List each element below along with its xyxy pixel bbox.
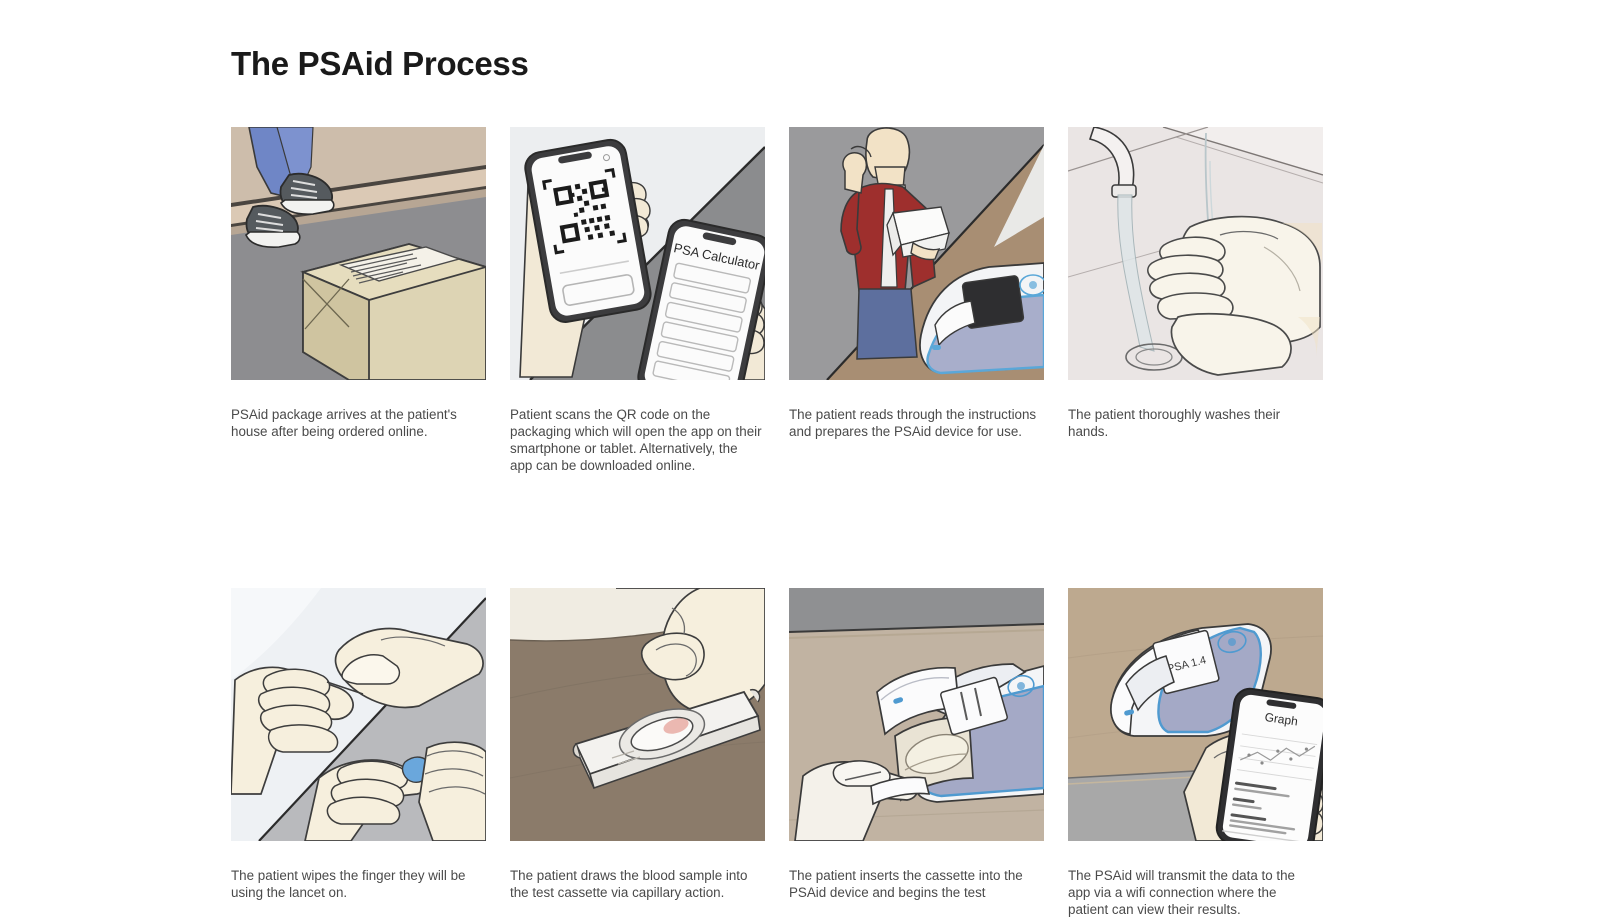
step-7-insert-cassette: The patient inserts the cassette into th…	[789, 588, 1044, 918]
step-4-illustration	[1068, 127, 1323, 380]
psaid-process-infographic: The PSAid Process	[0, 0, 1600, 900]
step-7-caption: The patient inserts the cassette into th…	[789, 867, 1041, 901]
step-1-package-delivery: PSAid package arrives at the patient's h…	[231, 127, 486, 475]
steps-row-2: The patient wipes the finger they will b…	[231, 588, 1341, 918]
step-3-caption: The patient reads through the instructio…	[789, 406, 1041, 440]
step-5-wipe-finger: The patient wipes the finger they will b…	[231, 588, 486, 918]
step-7-illustration	[789, 588, 1044, 841]
step-8-illustration: PSA 1.4	[1068, 588, 1323, 841]
step-4-wash-hands: The patient thoroughly washes their hand…	[1068, 127, 1323, 475]
step-1-illustration	[231, 127, 486, 380]
step-1-caption: PSAid package arrives at the patient's h…	[231, 406, 483, 440]
step-3-illustration	[789, 127, 1044, 380]
step-6-draw-blood-sample: The patient draws the blood sample into …	[510, 588, 765, 918]
step-4-caption: The patient thoroughly washes their hand…	[1068, 406, 1320, 440]
step-5-caption: The patient wipes the finger they will b…	[231, 867, 483, 901]
step-6-illustration	[510, 588, 765, 841]
step-2-caption: Patient scans the QR code on the packagi…	[510, 406, 762, 475]
step-8-view-results: PSA 1.4	[1068, 588, 1323, 918]
step-5-illustration	[231, 588, 486, 841]
steps-grid: PSAid package arrives at the patient's h…	[231, 127, 1341, 918]
steps-row-1: PSAid package arrives at the patient's h…	[231, 127, 1341, 475]
page-title: The PSAid Process	[231, 45, 529, 83]
step-8-caption: The PSAid will transmit the data to the …	[1068, 867, 1320, 918]
step-2-illustration: PSA Calculator	[510, 127, 765, 380]
step-6-caption: The patient draws the blood sample into …	[510, 867, 762, 901]
step-3-read-instructions: The patient reads through the instructio…	[789, 127, 1044, 475]
step-2-qr-scan: PSA Calculator	[510, 127, 765, 475]
